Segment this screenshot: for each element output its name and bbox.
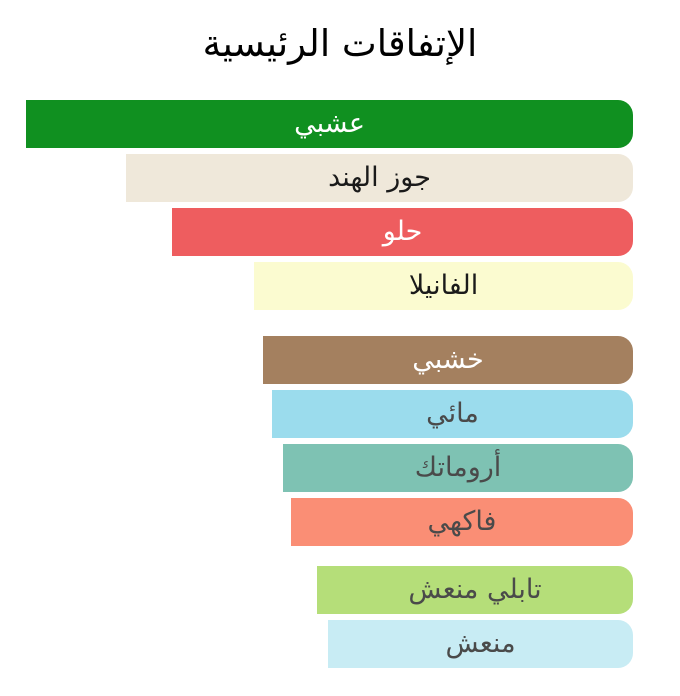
funnel-bar[interactable]: جوز الهند	[126, 154, 633, 202]
funnel-bar[interactable]: تابلي منعش	[317, 566, 633, 614]
funnel-bar[interactable]: مائي	[272, 390, 633, 438]
funnel-bar-label: الفانيلا	[409, 271, 478, 301]
funnel-bar-label: خشبي	[412, 345, 483, 375]
funnel-bar[interactable]: حلو	[172, 208, 633, 256]
funnel-bar-label: فاكهي	[428, 507, 497, 537]
funnel-bar-label: أروماتك	[415, 453, 502, 483]
funnel-bar-label: مائي	[426, 399, 479, 429]
funnel-bar[interactable]: خشبي	[263, 336, 633, 384]
funnel-bar-label: تابلي منعش	[408, 575, 541, 605]
funnel-bar-label: جوز الهند	[328, 163, 431, 193]
funnel-chart: الإتفاقات الرئيسية عشبيجوز الهندحلوالفان…	[0, 0, 680, 696]
funnel-bar[interactable]: فاكهي	[291, 498, 633, 546]
funnel-bar-label: عشبي	[294, 109, 365, 139]
funnel-bar[interactable]: الفانيلا	[254, 262, 633, 310]
funnel-bar-label: منعش	[445, 629, 515, 659]
funnel-bar[interactable]: عشبي	[26, 100, 633, 148]
funnel-bar[interactable]: أروماتك	[283, 444, 633, 492]
funnel-bar[interactable]: منعش	[328, 620, 633, 668]
funnel-plot-area: عشبيجوز الهندحلوالفانيلاخشبيمائيأروماتكف…	[0, 0, 680, 696]
funnel-bar-label: حلو	[383, 217, 423, 247]
